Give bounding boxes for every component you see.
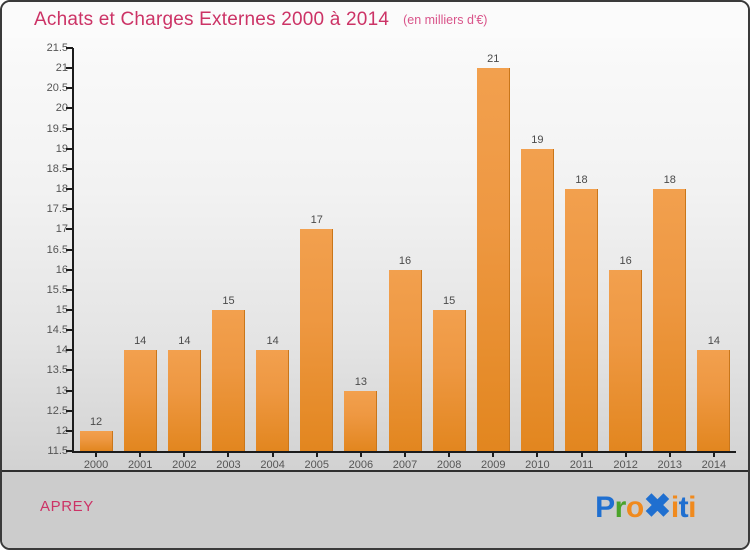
x-axis-tick-mark bbox=[669, 451, 671, 457]
bar-2001[interactable] bbox=[124, 350, 157, 451]
bar-value-label-2002: 14 bbox=[164, 335, 204, 347]
bar-value-label-2012: 16 bbox=[606, 255, 646, 267]
bar-2000[interactable] bbox=[80, 431, 113, 451]
chart-units-subtitle: (en milliers d'€) bbox=[403, 13, 487, 27]
bar-value-label-2014: 14 bbox=[694, 335, 734, 347]
logo-letter-6: i bbox=[688, 491, 696, 525]
x-axis-tick-mark bbox=[625, 451, 627, 457]
bar-2003[interactable] bbox=[212, 310, 245, 451]
x-axis-tick-mark bbox=[536, 451, 538, 457]
bar-2006[interactable] bbox=[344, 391, 377, 451]
bar-value-label-2006: 13 bbox=[341, 376, 381, 388]
bar-value-label-2000: 12 bbox=[76, 416, 116, 428]
bar-value-label-2005: 17 bbox=[297, 214, 337, 226]
entity-name-label: APREY bbox=[40, 498, 94, 515]
x-axis-tick-mark bbox=[404, 451, 406, 457]
x-axis-tick-mark bbox=[316, 451, 318, 457]
page-title: Achats et Charges Externes 2000 à 2014 bbox=[34, 9, 389, 31]
bar-2014[interactable] bbox=[697, 350, 730, 451]
footer-bar: APREY Pro✖iti bbox=[2, 470, 748, 548]
bar-2004[interactable] bbox=[256, 350, 289, 451]
bar-value-label-2001: 14 bbox=[120, 335, 160, 347]
x-axis-tick-mark bbox=[139, 451, 141, 457]
bar-value-label-2013: 18 bbox=[650, 174, 690, 186]
y-axis-line bbox=[72, 48, 74, 452]
bar-value-label-2010: 19 bbox=[517, 134, 557, 146]
proxiti-logo[interactable]: Pro✖iti bbox=[595, 486, 696, 525]
x-axis-tick-mark bbox=[581, 451, 583, 457]
logo-letter-0: P bbox=[595, 491, 615, 525]
bar-value-label-2007: 16 bbox=[385, 255, 425, 267]
x-axis-tick-mark bbox=[492, 451, 494, 457]
x-axis-tick-mark bbox=[448, 451, 450, 457]
bar-2002[interactable] bbox=[168, 350, 201, 451]
logo-letter-4: i bbox=[671, 491, 679, 525]
chart-window: Achats et Charges Externes 2000 à 2014 (… bbox=[0, 0, 750, 550]
chart-header: Achats et Charges Externes 2000 à 2014 (… bbox=[2, 2, 748, 38]
bar-2008[interactable] bbox=[433, 310, 466, 451]
logo-letter-2: o bbox=[626, 491, 644, 525]
x-axis-tick-mark bbox=[713, 451, 715, 457]
x-axis-tick-mark bbox=[227, 451, 229, 457]
bar-2011[interactable] bbox=[565, 189, 598, 451]
logo-letter-1: r bbox=[615, 491, 626, 525]
bar-2012[interactable] bbox=[609, 270, 642, 451]
bar-value-label-2008: 15 bbox=[429, 295, 469, 307]
bar-2009[interactable] bbox=[477, 68, 510, 451]
plot-area: 11.51212.51313.51414.51515.51616.51717.5… bbox=[2, 38, 748, 470]
bar-value-label-2004: 14 bbox=[253, 335, 293, 347]
bar-2007[interactable] bbox=[389, 270, 422, 451]
x-axis-tick-mark bbox=[95, 451, 97, 457]
bar-value-label-2003: 15 bbox=[208, 295, 248, 307]
bar-2013[interactable] bbox=[653, 189, 686, 451]
logo-letter-5: t bbox=[679, 491, 689, 525]
bar-2005[interactable] bbox=[300, 229, 333, 451]
bar-value-label-2009: 21 bbox=[473, 53, 513, 65]
bar-value-label-2011: 18 bbox=[562, 174, 602, 186]
x-axis-tick-mark bbox=[183, 451, 185, 457]
bar-2010[interactable] bbox=[521, 149, 554, 451]
x-axis-tick-mark bbox=[272, 451, 274, 457]
logo-letter-3: ✖ bbox=[644, 486, 671, 525]
x-axis-tick-mark bbox=[360, 451, 362, 457]
